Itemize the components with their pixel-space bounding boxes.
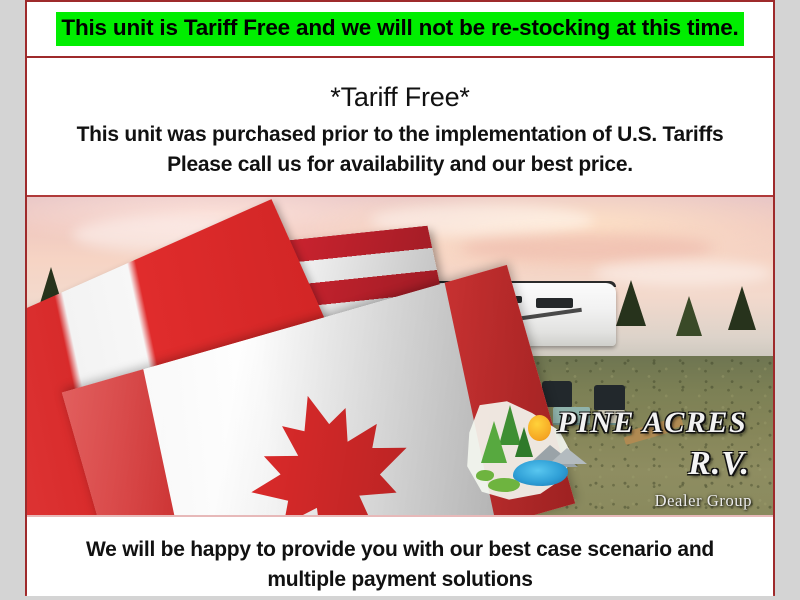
tariff-detail-line-2: Please call us for availability and our … — [27, 150, 773, 180]
logo-text-dealer-group: Dealer Group — [655, 491, 752, 511]
closing-message-block: We will be happy to provide you with our… — [27, 515, 773, 596]
closing-line-2: multiple payment solutions — [27, 565, 773, 595]
tariff-free-heading: *Tariff Free* — [27, 82, 773, 113]
logo-shoreline — [476, 470, 495, 481]
logo-wordmark: PINE ACRES R.V. Dealer Group — [557, 399, 758, 513]
closing-line-1: We will be happy to provide you with our… — [27, 535, 773, 565]
logo-text-pine-acres: PINE ACRES — [557, 406, 747, 440]
logo-shoreline — [488, 478, 519, 492]
banner-headline-text: This unit is Tariff Free and we will not… — [56, 12, 743, 45]
tariff-statement-block: *Tariff Free* This unit was purchased pr… — [27, 58, 773, 197]
listing-promo-card: This unit is Tariff Free and we will not… — [25, 0, 775, 596]
photo-scene: PINE ACRES R.V. Dealer Group — [27, 197, 773, 515]
pine-acres-rv-logo: PINE ACRES R.V. Dealer Group — [467, 399, 758, 513]
logo-text-rv: R.V. — [688, 445, 750, 483]
rv-campsite-photo: PINE ACRES R.V. Dealer Group — [27, 197, 773, 515]
tariff-detail-line-1: This unit was purchased prior to the imp… — [27, 120, 773, 150]
tariff-free-banner: This unit is Tariff Free and we will not… — [27, 0, 773, 58]
logo-sun-icon — [528, 415, 551, 441]
